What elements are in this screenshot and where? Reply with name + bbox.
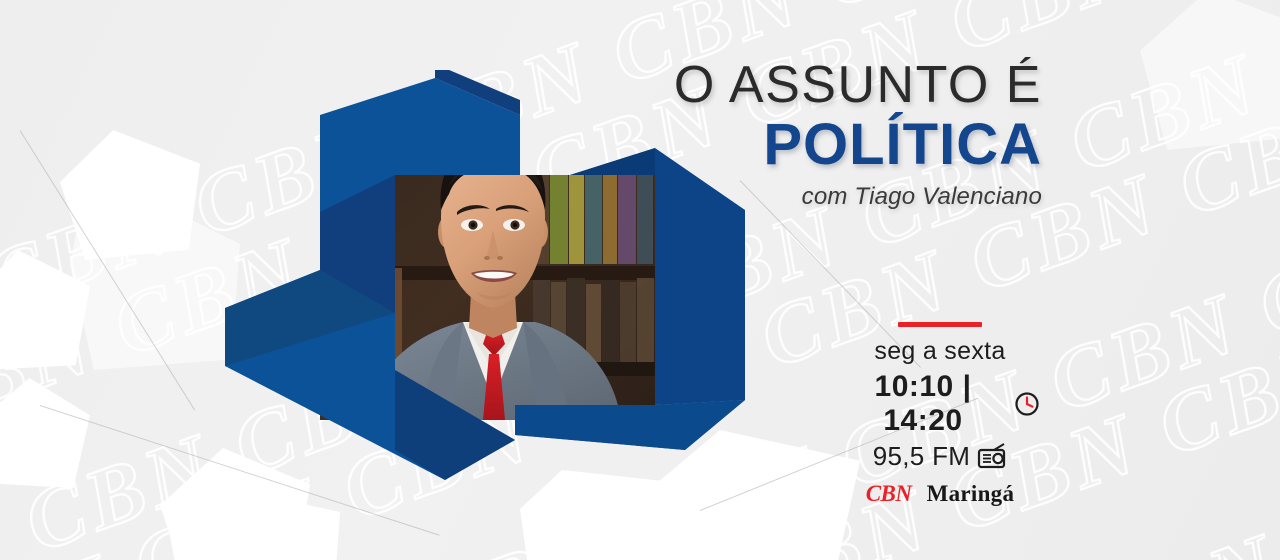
radio-icon: [977, 443, 1007, 469]
schedule-frequency-row: 95,5 FM: [840, 441, 1040, 472]
schedule-times-row: 10:10 | 14:20: [840, 370, 1040, 438]
schedule-block: seg a sexta 10:10 | 14:20 95,5 FM CBN M: [840, 322, 1040, 507]
show-title-line1: O ASSUNTO É: [674, 58, 1042, 113]
show-title-block: O ASSUNTO É POLÍTICA com Tiago Valencian…: [674, 58, 1042, 211]
show-host-subtitle: com Tiago Valenciano: [674, 183, 1042, 211]
clock-icon: [1014, 391, 1040, 417]
station-logo: CBN Maringá: [840, 481, 1040, 507]
divider-rule: [898, 322, 982, 327]
logo-brand: CBN: [866, 481, 912, 506]
logo-city: Maringá: [927, 481, 1015, 506]
radio-show-banner: CBN CBN CBN CBN CBN CBN CBN CBN CBN CBN …: [0, 0, 1280, 560]
cube-face-bottom-connector: [515, 400, 745, 450]
schedule-frequency: 95,5 FM: [873, 441, 970, 472]
cube-face-right-top: [570, 148, 655, 175]
show-title-line2: POLÍTICA: [674, 115, 1042, 175]
schedule-days: seg a sexta: [840, 337, 1040, 366]
schedule-times: 10:10 | 14:20: [840, 370, 1006, 438]
